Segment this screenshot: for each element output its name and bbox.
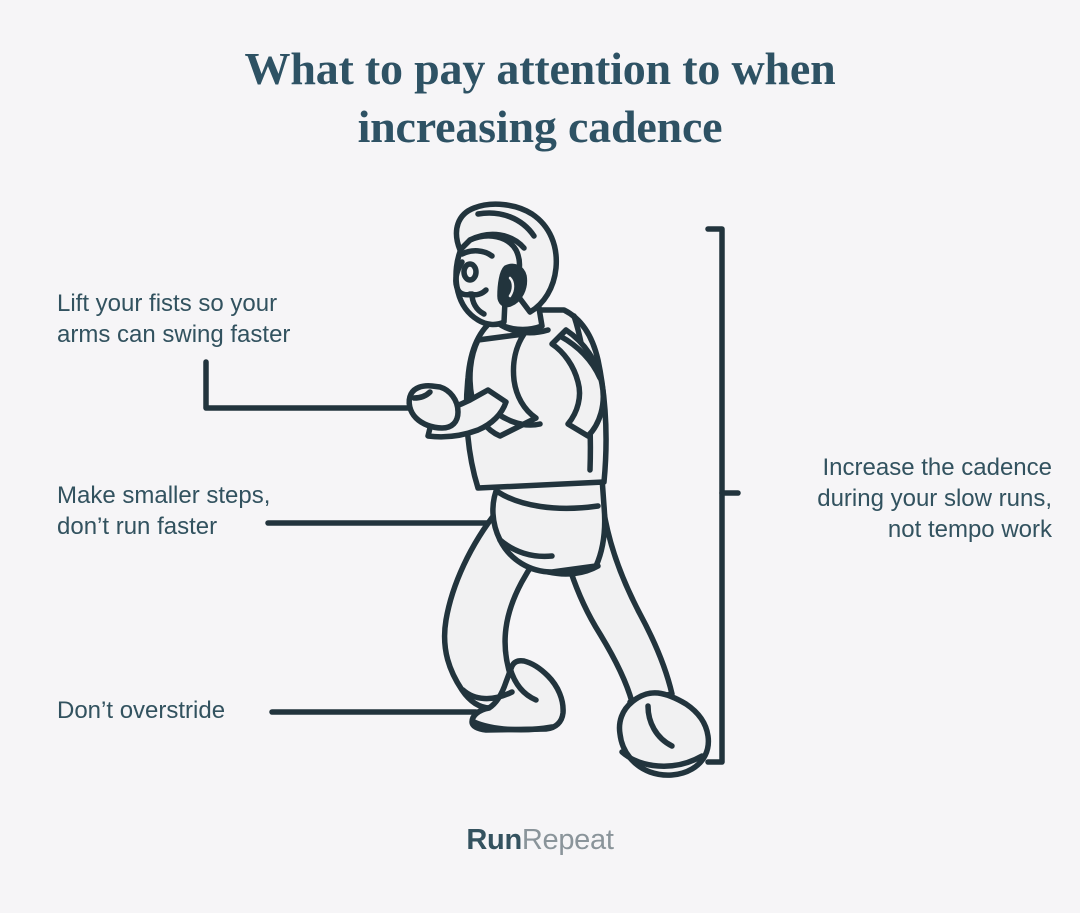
runner-figure (409, 204, 708, 775)
front-shoe (620, 693, 709, 775)
callout-lift-your-fists: Lift your fists so your arms can swing f… (57, 288, 290, 350)
eye (464, 264, 476, 280)
connector-line-arms (206, 362, 412, 408)
callout-increase-cadence-slow-runs: Increase the cadence during your slow ru… (740, 452, 1052, 545)
brand-logo: RunRepeat (0, 824, 1080, 857)
brand-logo-repeat: Repeat (522, 824, 614, 856)
brand-logo-run: Run (466, 824, 521, 856)
bracket-slow-runs (708, 229, 738, 762)
callout-dont-overstride: Don’t overstride (57, 695, 225, 726)
infographic-canvas: What to pay attention to when increasing… (0, 0, 1080, 913)
fist (409, 386, 458, 428)
callout-make-smaller-steps: Make smaller steps, don’t run faster (57, 480, 270, 542)
